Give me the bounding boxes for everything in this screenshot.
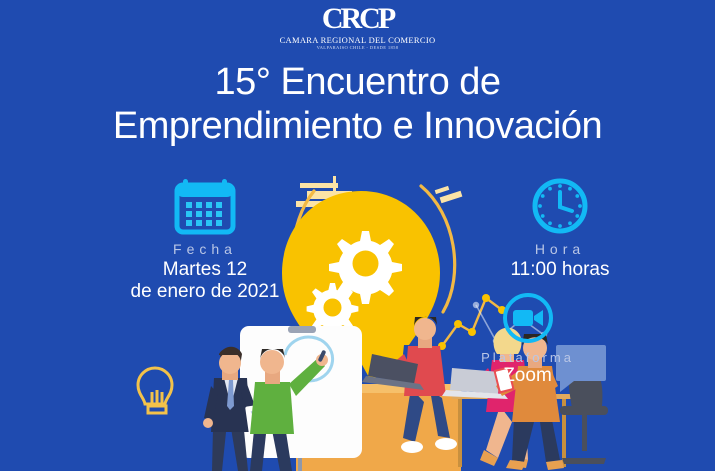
calendar-icon <box>174 177 236 235</box>
fecha-value-line-1: Martes 12 <box>120 259 290 281</box>
fecha-value-line-2: de enero de 2021 <box>120 281 290 303</box>
poster-canvas: CRCP CAMARA REGIONAL DEL COMERCIO VALPAR… <box>0 0 715 471</box>
logo-name: CAMARA REGIONAL DEL COMERCIO <box>0 35 715 45</box>
logo-block: CRCP CAMARA REGIONAL DEL COMERCIO VALPAR… <box>0 4 715 51</box>
hora-caption: Hora <box>480 241 640 257</box>
info-block-hora: Hora 11:00 horas <box>480 175 640 281</box>
info-block-plataforma: Plataforma Zoom <box>455 292 600 387</box>
plataforma-value-line-1: Zoom <box>455 365 600 387</box>
small-lightbulb-outline-icon <box>138 368 172 413</box>
video-camera-icon-wrap <box>455 292 600 344</box>
bottom-illustration <box>0 310 715 471</box>
logo-mark: CRCP <box>0 4 715 34</box>
hora-value-line-1: 11:00 horas <box>480 259 640 281</box>
info-block-fecha: Fecha Martes 12 de enero de 2021 <box>120 175 290 303</box>
page-title: 15° Encuentro de Emprendimiento e Innova… <box>0 60 715 148</box>
title-line-1: 15° Encuentro de <box>0 60 715 104</box>
title-line-2: Emprendimiento e Innovación <box>0 104 715 148</box>
logo-subtitle: VALPARAISO CHILE - DESDE 1858 <box>0 45 715 51</box>
video-camera-icon <box>502 292 554 344</box>
clock-icon <box>531 177 589 235</box>
calendar-icon-wrap <box>120 175 290 235</box>
fecha-caption: Fecha <box>120 241 290 257</box>
clock-icon-wrap <box>480 175 640 235</box>
plataforma-caption: Plataforma <box>455 350 600 365</box>
